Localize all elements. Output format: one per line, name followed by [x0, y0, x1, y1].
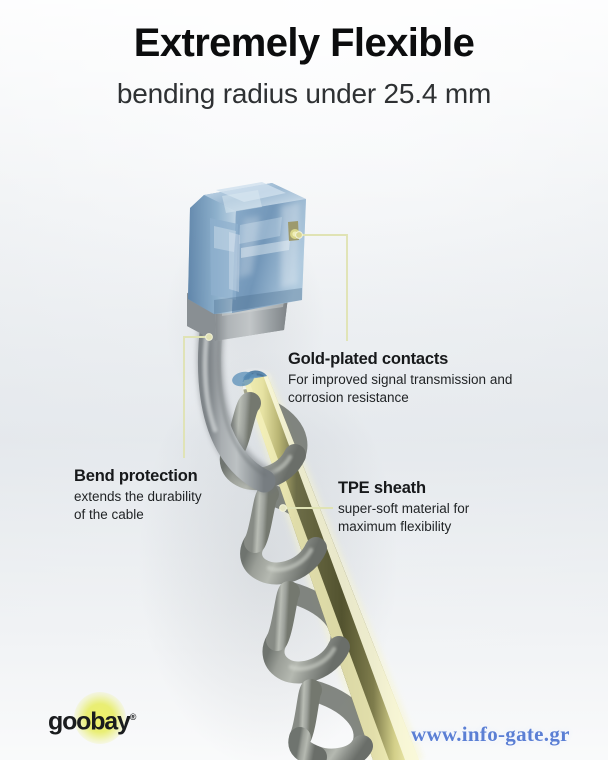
annotation-body-line1: super-soft material for: [338, 500, 469, 518]
annotation-gold-plated-contacts: Gold-plated contacts For improved signal…: [288, 350, 512, 407]
product-infographic: Extremely Flexible bending radius under …: [0, 0, 608, 760]
annotation-heading: Gold-plated contacts: [288, 350, 512, 369]
annotation-bend-protection: Bend protection extends the durability o…: [74, 467, 202, 524]
annotation-body-line1: extends the durability: [74, 488, 202, 506]
goobay-logo: goobay®: [48, 700, 158, 734]
annotation-body-line2: corrosion resistance: [288, 389, 512, 407]
site-watermark: www.info-gate.gr: [411, 722, 570, 747]
annotation-tpe-sheath: TPE sheath super-soft material for maxim…: [338, 479, 469, 536]
page-title: Extremely Flexible: [0, 22, 608, 64]
rj45-connector-housing: [188, 182, 306, 314]
logo-text: goobay: [48, 707, 130, 735]
annotation-body: extends the durability of the cable: [74, 488, 202, 524]
annotation-body-line2: maximum flexibility: [338, 518, 469, 536]
annotation-body-line2: of the cable: [74, 506, 202, 524]
annotation-heading: TPE sheath: [338, 479, 469, 498]
annotation-body-line1: For improved signal transmission and: [288, 371, 512, 389]
logo-wordmark: goobay®: [48, 700, 136, 738]
annotation-body: For improved signal transmission and cor…: [288, 371, 512, 407]
logo-registered-mark: ®: [130, 712, 137, 722]
annotation-heading: Bend protection: [74, 467, 202, 486]
annotation-body: super-soft material for maximum flexibil…: [338, 500, 469, 536]
page-subtitle: bending radius under 25.4 mm: [0, 78, 608, 110]
